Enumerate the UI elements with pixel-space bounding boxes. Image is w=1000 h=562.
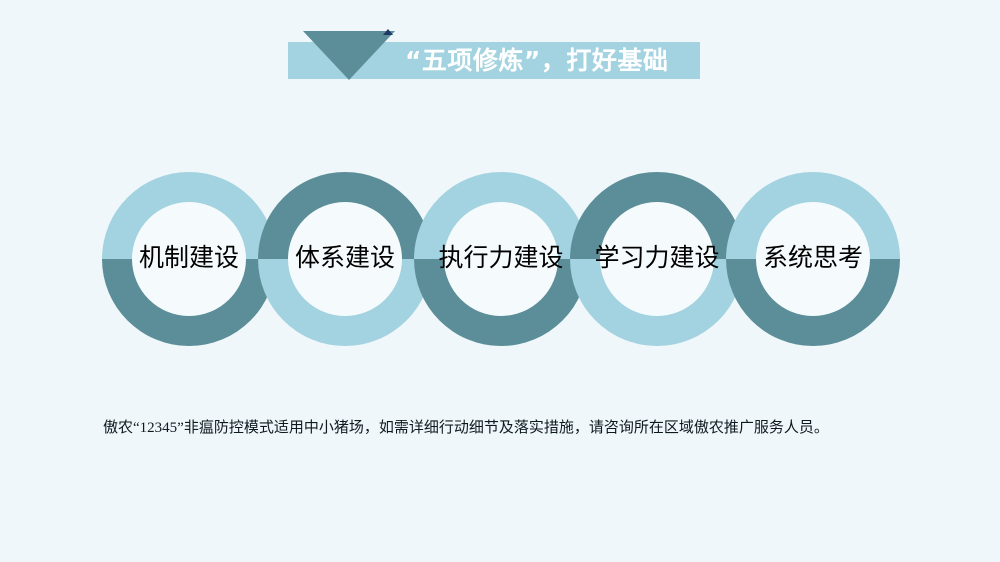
footer-note: 傲农“12345”非瘟防控模式适用中小猪场，如需详细行动细节及落实措施，请咨询所… xyxy=(103,405,893,452)
ring-label-3: 执行力建设 xyxy=(414,172,588,346)
triangle-marker-icon xyxy=(303,31,395,80)
ring-label-2: 体系建设 xyxy=(258,172,432,346)
page-title: “五项修炼”，打好基础 xyxy=(405,42,668,79)
ring-label-4: 学习力建设 xyxy=(570,172,744,346)
slide-canvas: “五项修炼”，打好基础 机制建设体系建设执行力建设学习力建设系统思考 傲农“12… xyxy=(0,0,1000,562)
small-arrow-icon xyxy=(383,29,393,35)
ring-label-1: 机制建设 xyxy=(102,172,276,346)
ring-chain: 机制建设体系建设执行力建设学习力建设系统思考 xyxy=(0,172,1000,347)
ring-label-5: 系统思考 xyxy=(726,172,900,346)
